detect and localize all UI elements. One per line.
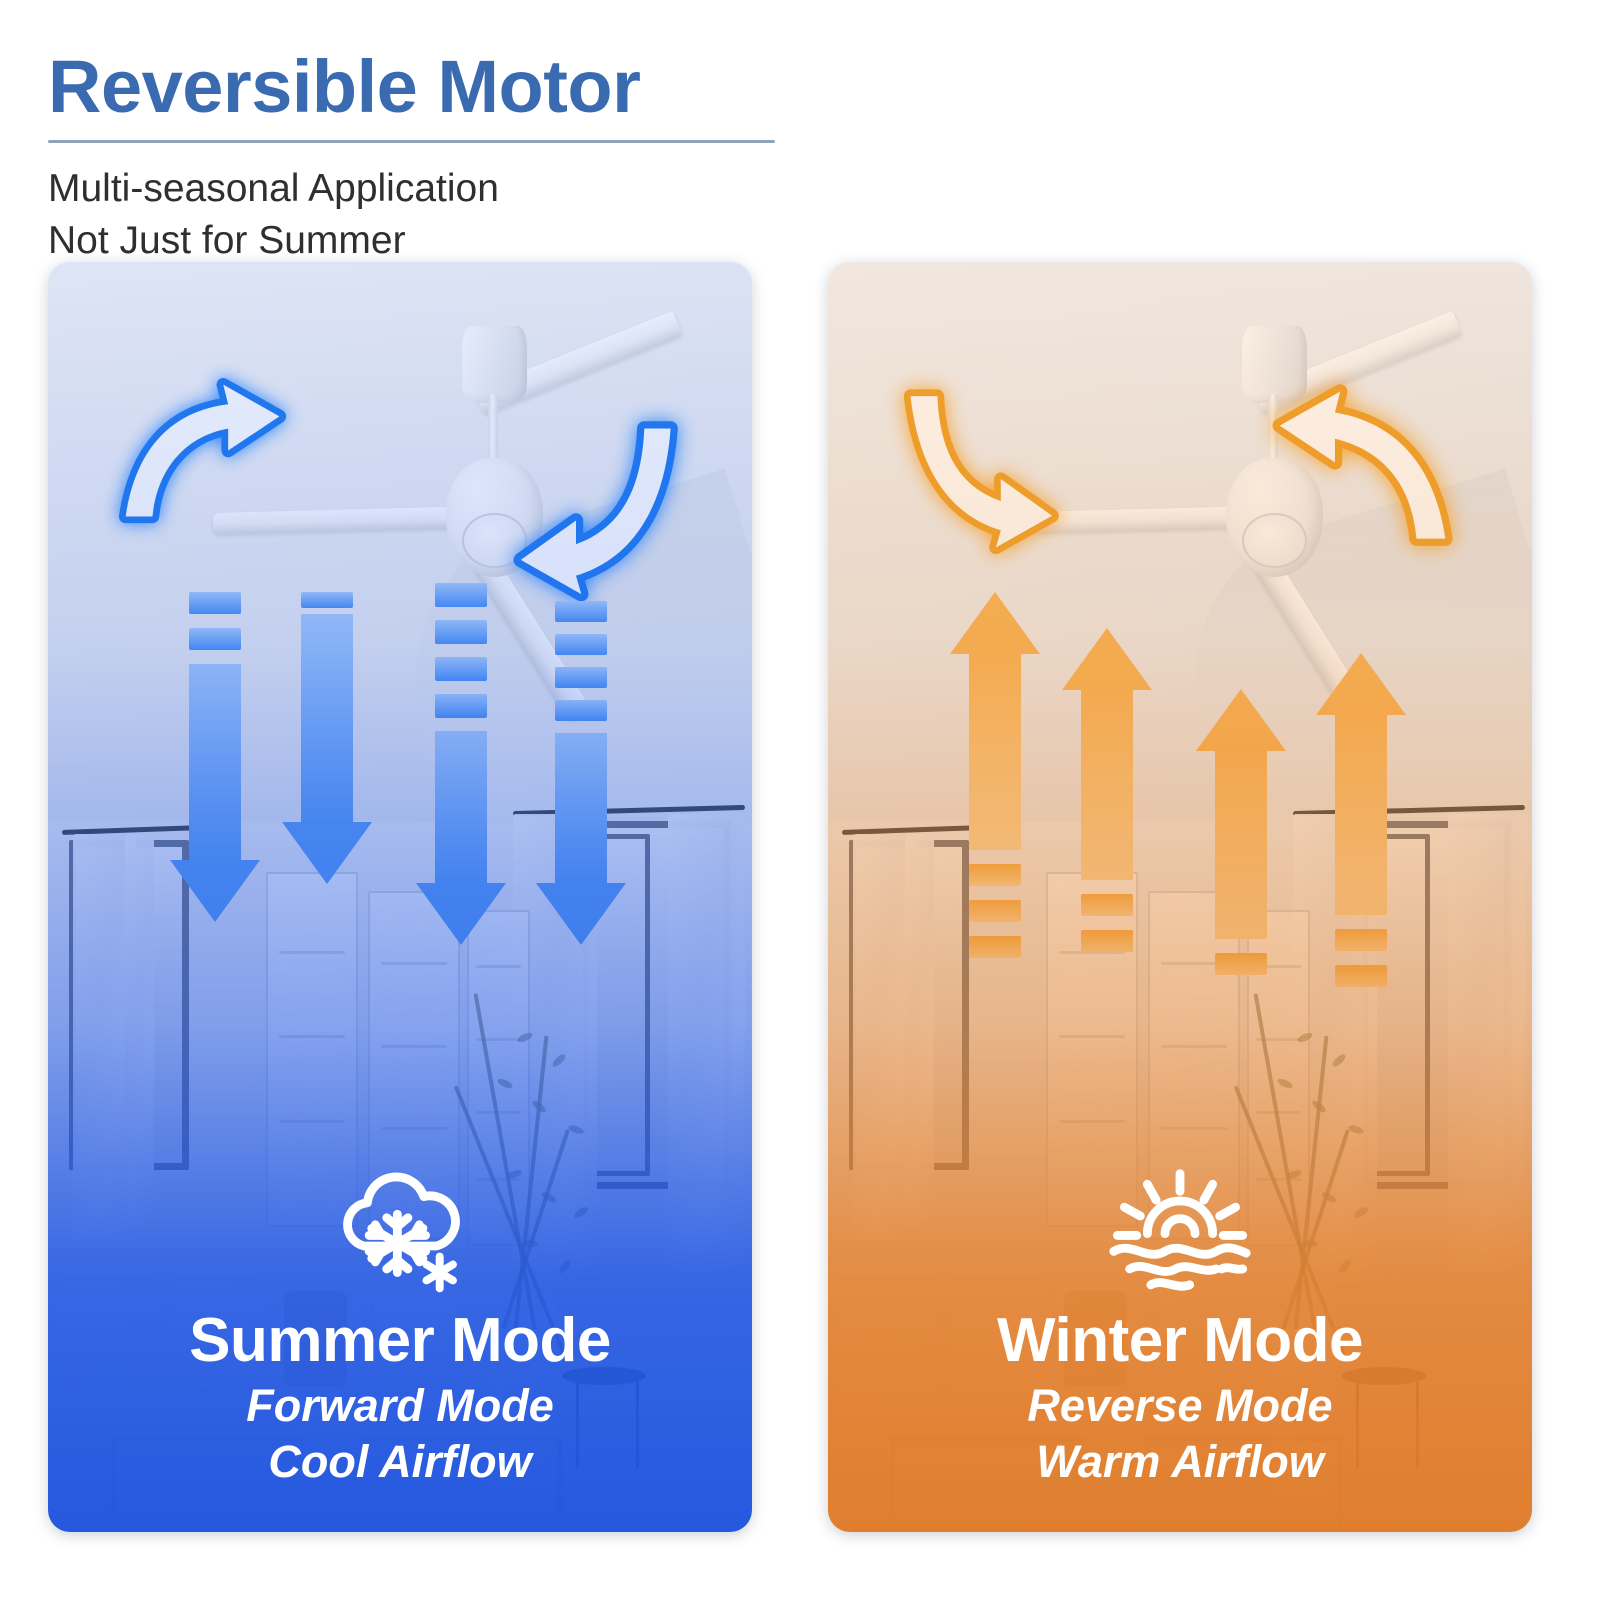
airflow-arrow — [1215, 689, 1267, 975]
sunrise-icon — [828, 1145, 1532, 1300]
airflow-arrow — [435, 583, 487, 945]
caption-winter: Winter Mode Reverse Mode Warm Airflow — [828, 1145, 1532, 1490]
rotation-arrow-left-icon — [891, 326, 1074, 605]
airflow-arrow — [301, 592, 353, 884]
mode-sub-1-summer: Forward Mode — [48, 1378, 752, 1434]
mode-title-summer: Summer Mode — [48, 1304, 752, 1378]
airflow-arrow — [555, 601, 607, 945]
mode-title-winter: Winter Mode — [828, 1304, 1532, 1378]
page-title: Reversible Motor — [48, 44, 788, 130]
rotation-arrow-right-icon — [1264, 326, 1461, 605]
mode-panels: Summer Mode Forward Mode Cool Airflow — [48, 262, 1532, 1532]
subtitle-line-1: Multi-seasonal Application — [48, 163, 788, 215]
infographic-page: Reversible Motor Multi-seasonal Applicat… — [0, 0, 1598, 1598]
caption-summer: Summer Mode Forward Mode Cool Airflow — [48, 1145, 752, 1490]
mode-sub-2-winter: Warm Airflow — [828, 1434, 1532, 1490]
mode-sub-1-winter: Reverse Mode — [828, 1378, 1532, 1434]
cloud-snow-icon — [48, 1145, 752, 1300]
subtitle-line-2: Not Just for Summer — [48, 215, 788, 267]
panel-winter[interactable]: Winter Mode Reverse Mode Warm Airflow — [828, 262, 1532, 1532]
airflow-arrow — [969, 592, 1021, 958]
airflow-arrow — [189, 592, 241, 922]
rotation-arrow-left-icon — [111, 326, 294, 580]
airflow-arrow — [1335, 653, 1387, 987]
header: Reversible Motor Multi-seasonal Applicat… — [48, 44, 788, 267]
airflow-arrow — [1081, 628, 1133, 952]
mode-sub-2-summer: Cool Airflow — [48, 1434, 752, 1490]
panel-summer[interactable]: Summer Mode Forward Mode Cool Airflow — [48, 262, 752, 1532]
airflow-arrows-down — [48, 580, 752, 1190]
airflow-arrows-up — [828, 580, 1532, 1190]
title-divider — [48, 140, 775, 143]
